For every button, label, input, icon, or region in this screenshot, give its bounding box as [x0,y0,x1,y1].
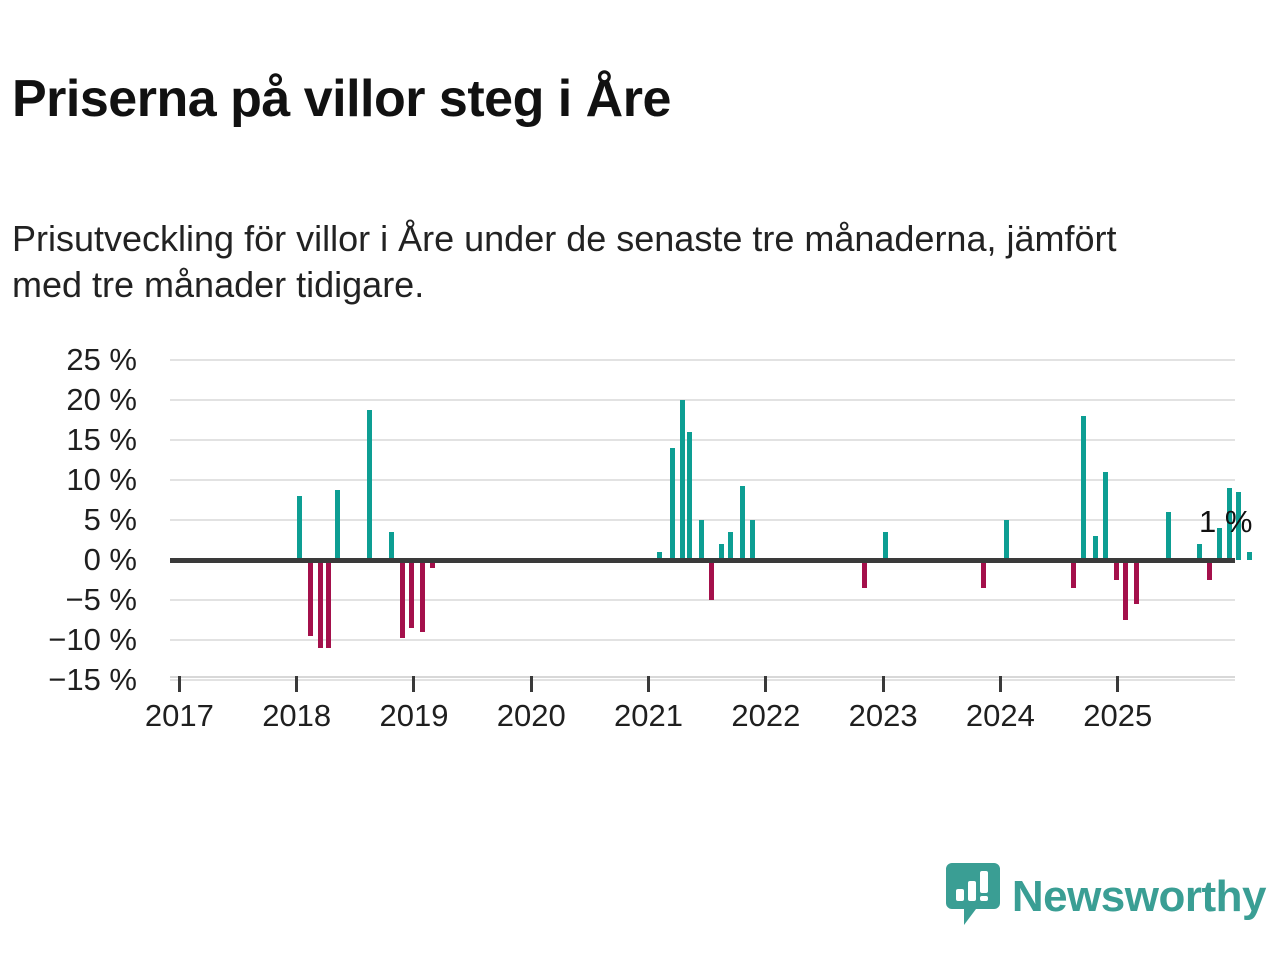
x-axis-tick-label: 2018 [262,698,331,734]
bar [367,410,372,560]
bar [297,496,302,560]
bar [981,560,986,588]
y-axis-tick-label: −5 % [0,584,137,615]
value-annotation: 1 % [1199,504,1252,540]
bar [1114,560,1119,580]
x-axis-tick-label: 2020 [497,698,566,734]
x-axis-tick-label: 2025 [1083,698,1152,734]
bar [699,520,704,560]
bar-chart: 25 %20 %15 %10 %5 %0 %−5 %−10 %−15 % 1 %… [0,340,1280,760]
bar [670,448,675,560]
bar [326,560,331,648]
gridline [170,479,1235,481]
bar [1004,520,1009,560]
x-axis-tick [530,676,533,692]
logo-wordmark: Newsworthy [1012,875,1266,919]
x-axis-tick-label: 2021 [614,698,683,734]
gridline [170,679,1235,681]
bar [1134,560,1139,604]
y-axis-tick-label: 20 % [0,384,137,415]
y-axis-tick-label: 10 % [0,464,137,495]
gridline [170,439,1235,441]
bar [389,532,394,560]
bar [709,560,714,600]
x-axis-tick [764,676,767,692]
page-title: Priserna på villor steg i Åre [12,71,671,127]
bar [1123,560,1128,620]
x-axis-tick-label: 2022 [731,698,800,734]
bar [1166,512,1171,560]
bar [728,532,733,560]
bar [1247,552,1252,560]
y-axis-tick-label: −10 % [0,624,137,655]
bar [1103,472,1108,560]
y-axis-tick-label: 5 % [0,504,137,535]
x-axis-tick-label: 2019 [379,698,448,734]
y-axis-tick-label: 15 % [0,424,137,455]
gridline [170,399,1235,401]
bar [740,486,745,560]
bar [1081,416,1086,560]
x-axis-tick [999,676,1002,692]
bar [409,560,414,628]
bar [680,400,685,560]
bar [750,520,755,560]
plot-area: 25 %20 %15 %10 %5 %0 %−5 %−10 %−15 % [170,360,1235,680]
bar-chart-speech-bubble-icon [946,863,1000,930]
bar [1093,536,1098,560]
x-axis-tick [882,676,885,692]
y-axis-tick-label: 25 % [0,344,137,375]
y-axis-tick-label: −15 % [0,664,137,695]
y-axis-tick-label: 0 % [0,544,137,575]
bar [1071,560,1076,588]
bar [1207,560,1212,580]
bar [308,560,313,636]
x-axis-tick-label: 2023 [849,698,918,734]
bar [420,560,425,632]
bar [400,560,405,638]
x-axis-tick [1116,676,1119,692]
bar [335,490,340,560]
bar [318,560,323,648]
x-axis-tick [295,676,298,692]
x-axis-tick-label: 2017 [145,698,214,734]
zero-baseline [170,558,1235,563]
bar [883,532,888,560]
bar [862,560,867,588]
x-axis-tick-label: 2024 [966,698,1035,734]
newsworthy-logo[interactable]: Newsworthy [946,863,1266,930]
page-subtitle: Prisutveckling för villor i Åre under de… [12,216,1132,308]
bar [687,432,692,560]
x-axis-tick [647,676,650,692]
x-axis-tick [412,676,415,692]
x-axis-tick [178,676,181,692]
gridline [170,359,1235,361]
x-axis-line [170,676,1235,678]
